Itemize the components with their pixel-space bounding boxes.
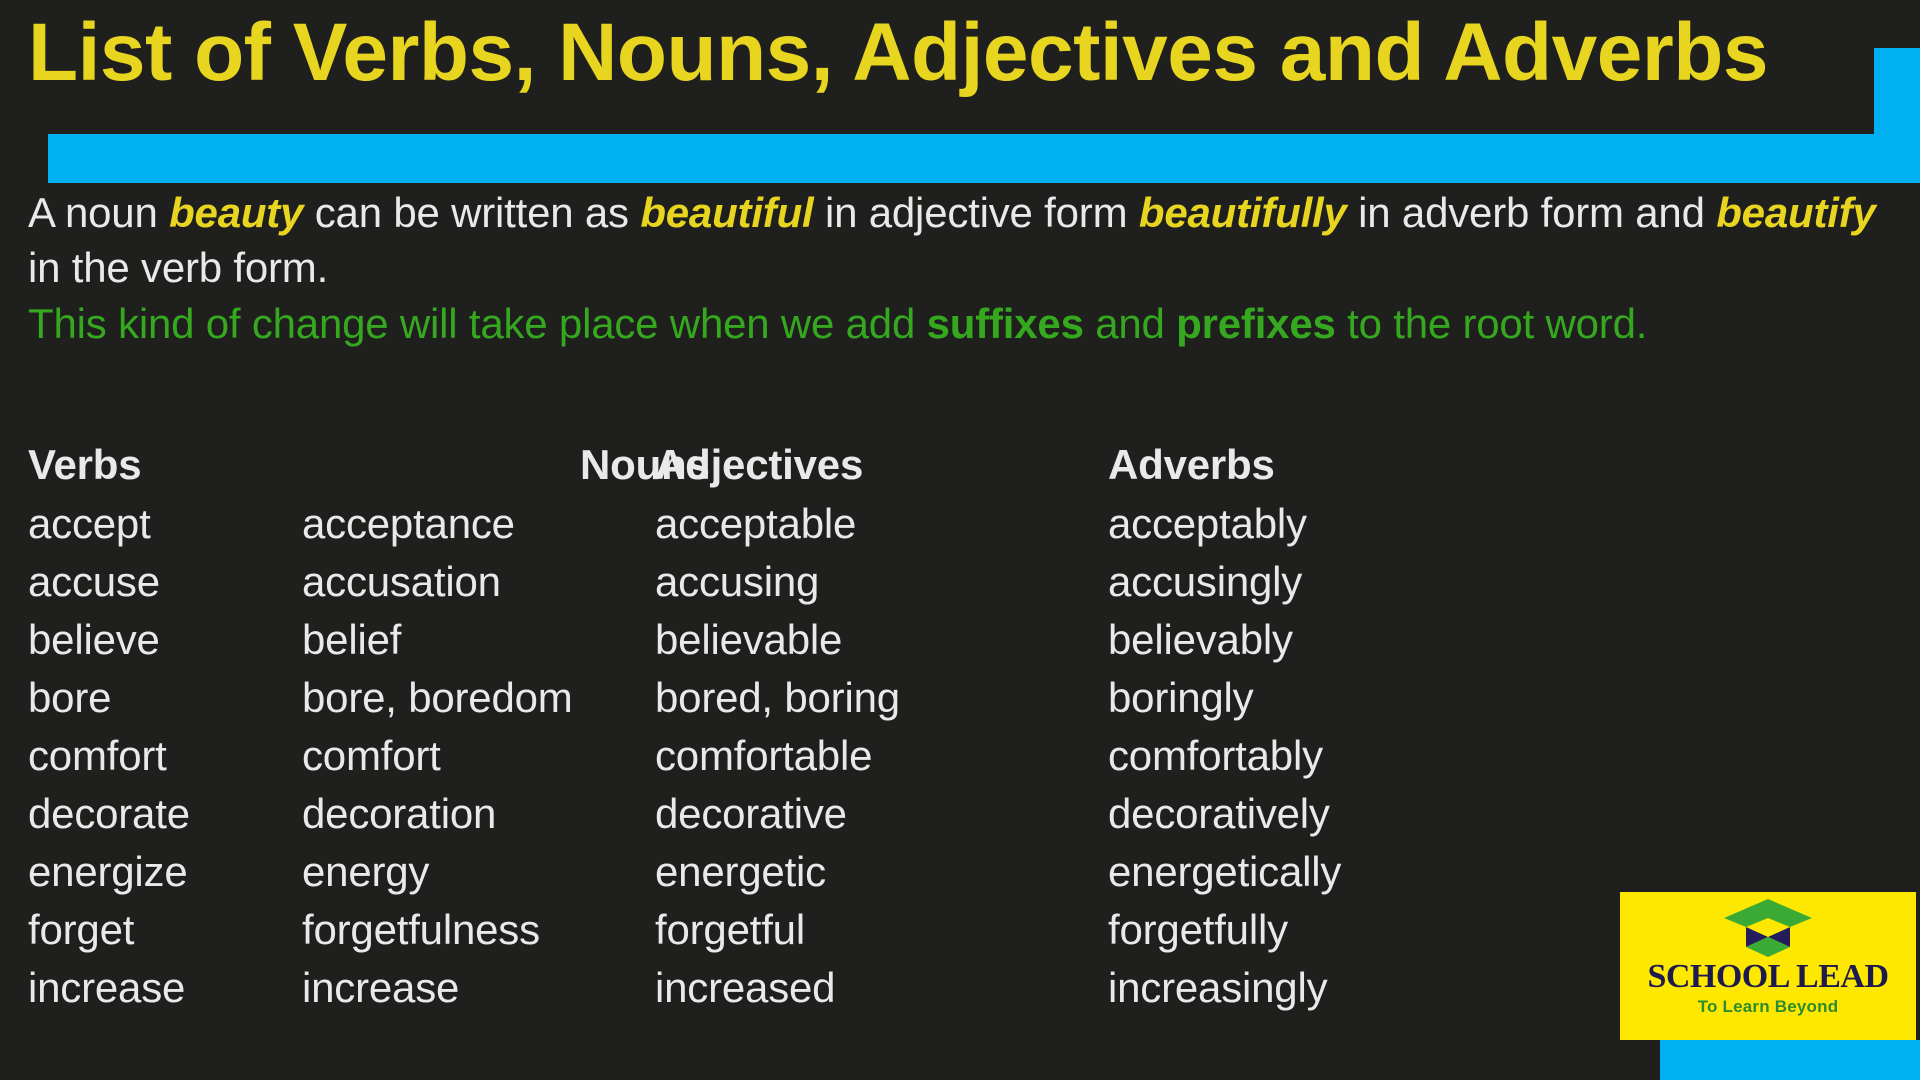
table-cell: acceptably [1090,499,1590,557]
table-cell: boringly [1090,673,1590,731]
table-cell: accusingly [1090,557,1590,615]
table-cell: believable [645,615,1090,673]
table-cell: decoratively [1090,789,1590,847]
table-cell: acceptable [645,499,1090,557]
table-cell: decorative [645,789,1090,847]
logo-accent-blue-bar [1660,1040,1920,1080]
table-cell: forgetful [645,905,1090,963]
table-row: accuseaccusationaccusingaccusingly [0,557,1920,615]
table-cell: believably [1090,615,1590,673]
table-row: believebeliefbelievablebelievably [0,615,1920,673]
p2-text-2: and [1084,300,1176,347]
column-header-adjectives: Adjectives [645,440,1090,489]
school-lead-logo: SCHOOL LEAD To Learn Beyond [1620,892,1916,1040]
column-header-nouns: Nouns [290,440,645,489]
table-cell: accept [0,499,290,557]
column-header-verbs: Verbs [0,440,290,489]
table-cell: increase [290,963,645,1021]
table-cell: forget [0,905,290,963]
paragraph-affixes: This kind of change will take place when… [28,297,1898,352]
logo-wordmark: SCHOOL LEAD [1647,960,1888,994]
page-title: List of Verbs, Nouns, Adjectives and Adv… [28,6,1878,100]
table-row: acceptacceptanceacceptableacceptably [0,499,1920,557]
table-cell: comfort [290,731,645,789]
table-cell: increasingly [1090,963,1590,1021]
highlight-beautifully: beautifully [1139,189,1347,236]
table-cell: comfortable [645,731,1090,789]
table-row: borebore, boredombored, boringboringly [0,673,1920,731]
p1-text-5: in the verb form. [28,244,328,291]
table-cell: comfortably [1090,731,1590,789]
highlight-beautify: beautify [1716,189,1875,236]
paragraph-noun-forms: A noun beauty can be written as beautifu… [28,186,1898,295]
p2-text-3: to the root word. [1336,300,1648,347]
column-header-adverbs: Adverbs [1090,440,1590,489]
logo-tagline: To Learn Beyond [1698,998,1839,1015]
graduation-cap-icon [1720,897,1816,959]
title-accent-blue-bar [48,134,1920,183]
table-header-row: Verbs Nouns Adjectives Adverbs [0,440,1920,489]
table-cell: bore, boredom [290,673,645,731]
p1-text-1: A noun [28,189,169,236]
highlight-prefixes: prefixes [1176,300,1336,347]
p1-text-4: in adverb form and [1347,189,1717,236]
table-cell: increase [0,963,290,1021]
table-cell: believe [0,615,290,673]
table-cell: acceptance [290,499,645,557]
p1-text-2: can be written as [303,189,640,236]
table-cell: accusation [290,557,645,615]
highlight-suffixes: suffixes [927,300,1084,347]
table-cell: decorate [0,789,290,847]
table-cell: accuse [0,557,290,615]
table-row: decoratedecorationdecorativedecoratively [0,789,1920,847]
table-cell: increased [645,963,1090,1021]
table-cell: forgetfulness [290,905,645,963]
highlight-beauty: beauty [169,189,303,236]
table-cell: belief [290,615,645,673]
p2-text-1: This kind of change will take place when… [28,300,927,347]
p1-text-3: in adjective form [814,189,1139,236]
table-cell: bored, boring [645,673,1090,731]
table-cell: energize [0,847,290,905]
intro-paragraphs: A noun beauty can be written as beautifu… [28,186,1898,352]
table-cell: energetic [645,847,1090,905]
table-cell: energetically [1090,847,1590,905]
table-row: comfortcomfortcomfortablecomfortably [0,731,1920,789]
table-cell: energy [290,847,645,905]
highlight-beautiful: beautiful [640,189,813,236]
table-cell: forgetfully [1090,905,1590,963]
table-cell: comfort [0,731,290,789]
table-cell: bore [0,673,290,731]
table-cell: decoration [290,789,645,847]
table-cell: accusing [645,557,1090,615]
